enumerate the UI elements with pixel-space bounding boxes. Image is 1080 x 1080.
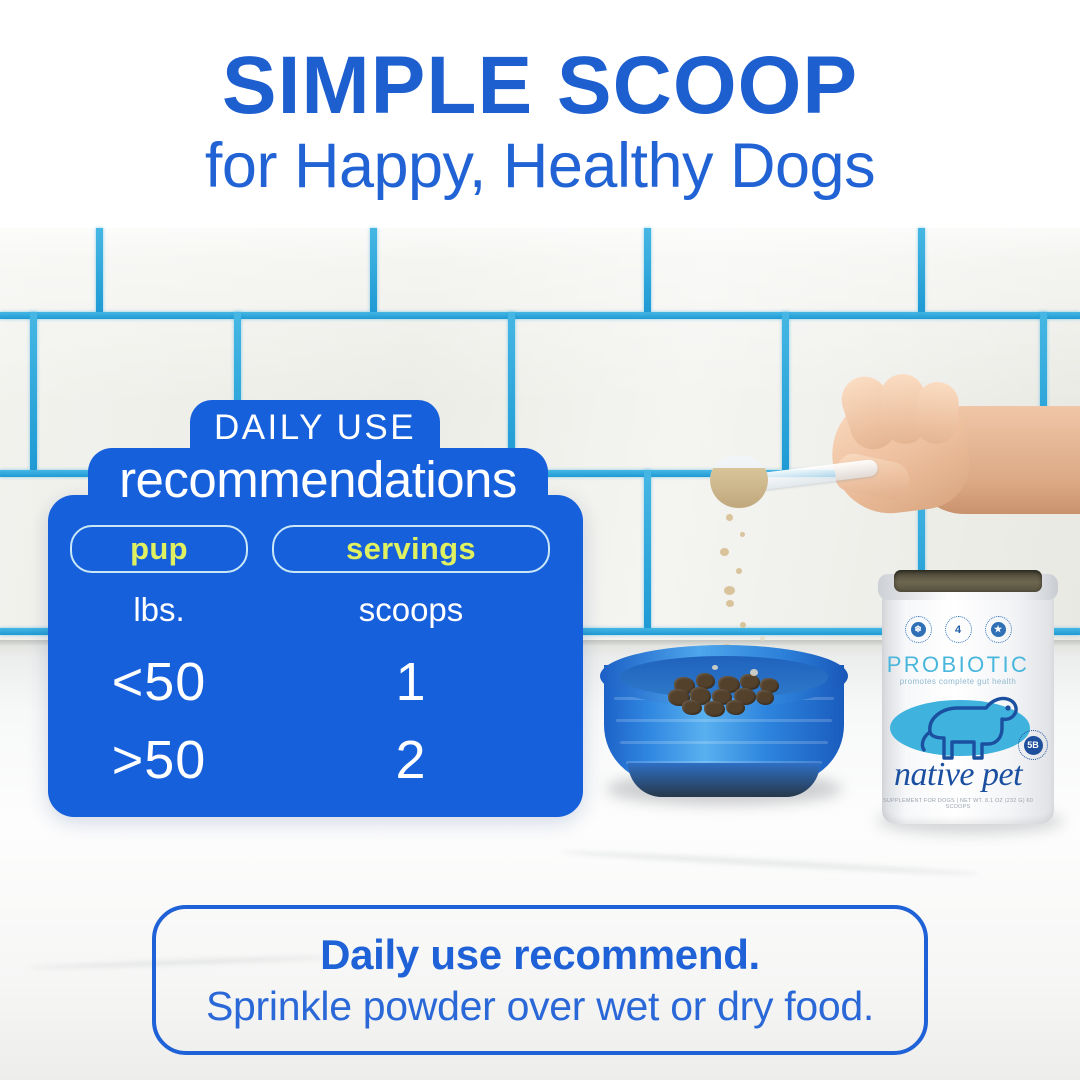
infographic-canvas: SIMPLE SCOOP for Happy, Healthy Dogs <box>0 0 1080 1080</box>
instruction-line-1: Daily use recommend. <box>320 931 760 979</box>
falling-powder <box>726 514 733 521</box>
grout-line-vertical <box>508 312 515 470</box>
row2-scoops: 2 <box>272 721 550 799</box>
headline-secondary: for Happy, Healthy Dogs <box>0 128 1080 205</box>
powder-fleck <box>760 636 765 641</box>
product-type-label: PROBIOTIC <box>872 652 1044 678</box>
quality-badge-icon: ★ <box>985 616 1012 643</box>
grout-line-vertical <box>782 312 789 470</box>
daily-use-tab: DAILY USE <box>190 400 440 456</box>
dosage-card: pup servings lbs. scoops <50 1 >50 2 <box>48 495 583 817</box>
kibble <box>756 690 774 705</box>
tin-opening <box>894 570 1042 592</box>
scoop-cup <box>710 456 768 508</box>
row1-weight: <50 <box>70 643 248 721</box>
pill-servings: servings <box>272 525 550 573</box>
paw-badge-icon: ❄ <box>905 616 932 643</box>
header-weight-unit: lbs. <box>70 591 248 643</box>
falling-powder <box>740 532 745 537</box>
kibble <box>704 701 725 717</box>
headline-primary: SIMPLE SCOOP <box>0 44 1080 128</box>
shield-icon: ★ <box>991 622 1006 637</box>
usage-instruction-box: Daily use recommend. Sprinkle powder ove… <box>152 905 928 1055</box>
table-header-row: lbs. scoops <box>70 591 561 643</box>
bowl-rib <box>616 719 832 722</box>
powder-fleck <box>712 665 718 670</box>
pill-pup-label: pup <box>130 531 188 567</box>
recommendations-title-band: recommendations <box>88 448 548 510</box>
recommendations-title: recommendations <box>119 450 517 509</box>
falling-powder <box>726 600 734 607</box>
grout-line-horizontal <box>0 312 1080 319</box>
bowl-base <box>628 763 820 797</box>
bowl-rib <box>620 741 828 744</box>
brand-name: native pet <box>872 756 1044 794</box>
kibble <box>682 700 702 715</box>
powder-fleck <box>750 669 758 676</box>
page-title: SIMPLE SCOOP for Happy, Healthy Dogs <box>0 44 1080 204</box>
grout-line-vertical <box>370 228 377 312</box>
falling-powder <box>736 568 742 574</box>
table-row: >50 2 <box>70 721 561 799</box>
instruction-line-2: Sprinkle powder over wet or dry food. <box>206 983 874 1030</box>
product-tagline: promotes complete gut health <box>872 677 1044 686</box>
grout-line-vertical <box>644 470 651 628</box>
dog-bowl-photo <box>600 645 848 810</box>
tin-badge-row: ❄ 4 ★ <box>872 616 1044 643</box>
pill-pup: pup <box>70 525 248 573</box>
falling-powder <box>724 586 735 595</box>
cfu-seal-label: 5B <box>1024 736 1043 755</box>
grout-line-vertical <box>30 312 37 470</box>
tin-fine-print: SUPPLEMENT FOR DOGS | NET WT. 8.1 OZ (23… <box>872 798 1044 810</box>
grout-line-vertical <box>96 228 103 312</box>
falling-powder <box>740 622 746 628</box>
paw-icon: ❄ <box>911 622 926 637</box>
falling-powder <box>720 548 729 556</box>
pill-servings-label: servings <box>346 531 476 567</box>
product-tin-photo: ❄ 4 ★ PROBIOTIC promotes complete gut he… <box>872 560 1064 835</box>
column-pill-row: pup servings <box>48 525 583 573</box>
strain-count-badge: 4 <box>945 616 972 643</box>
dog-silhouette-icon <box>912 688 1024 762</box>
strain-count-label: 4 <box>955 624 961 636</box>
kibble <box>726 700 745 715</box>
row1-scoops: 1 <box>272 643 550 721</box>
table-row: <50 1 <box>70 643 561 721</box>
row2-weight: >50 <box>70 721 248 799</box>
grout-line-vertical <box>918 228 925 312</box>
header-scoops-unit: scoops <box>272 591 550 643</box>
dosage-table: lbs. scoops <50 1 >50 2 <box>48 591 583 800</box>
daily-use-label: DAILY USE <box>214 408 416 448</box>
grout-line-vertical <box>644 228 651 312</box>
